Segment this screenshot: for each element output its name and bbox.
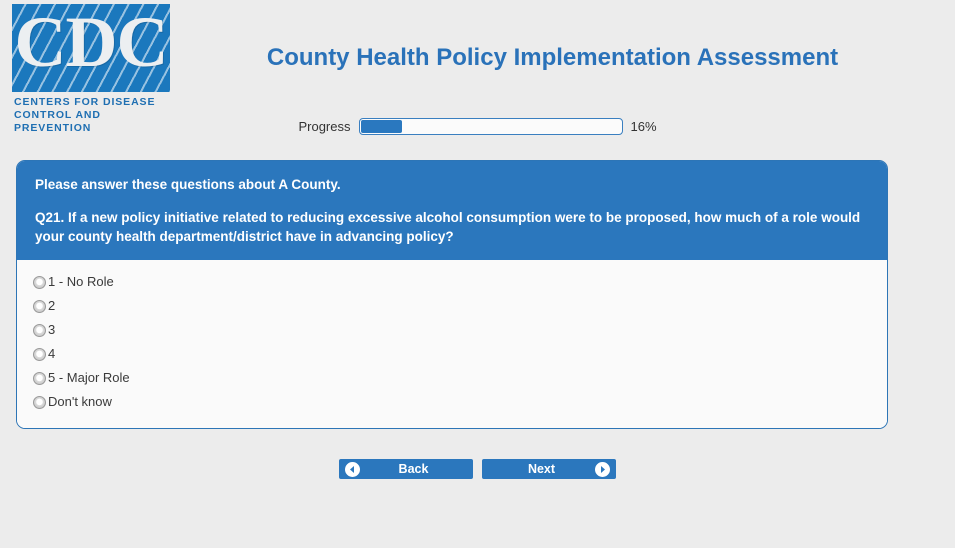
page-title: County Health Policy Implementation Asse… [190, 44, 915, 72]
cdc-tagline-line1: CENTERS FOR DISEASE [14, 96, 170, 109]
next-button[interactable]: Next [482, 459, 616, 479]
progress-label: Progress [298, 119, 350, 134]
next-button-label: Next [488, 462, 595, 476]
question-number: Q21. [35, 210, 64, 225]
progress-bar [359, 118, 623, 135]
circle-arrow-right-icon [595, 462, 610, 477]
answer-option-label: 2 [48, 298, 55, 314]
progress-bar-fill [361, 120, 403, 133]
panel-intro-text: Please answer these questions about A Co… [35, 177, 869, 192]
cdc-logo-mark: CDC [12, 4, 170, 92]
answer-option[interactable]: 5 - Major Role [17, 366, 887, 390]
circle-arrow-left-icon [345, 462, 360, 477]
answer-option-label: 1 - No Role [48, 274, 114, 290]
cdc-logo-letters: CDC [12, 6, 170, 78]
radio-button[interactable] [33, 372, 46, 385]
radio-button[interactable] [33, 276, 46, 289]
answer-option[interactable]: 1 - No Role [17, 270, 887, 294]
navigation-buttons: Back Next [0, 459, 955, 479]
answer-option-label: Don't know [48, 394, 112, 410]
back-button-label: Back [360, 462, 467, 476]
answer-option[interactable]: 4 [17, 342, 887, 366]
question-panel: Please answer these questions about A Co… [16, 160, 888, 429]
radio-button[interactable] [33, 348, 46, 361]
question-text: Q21. If a new policy initiative related … [35, 208, 869, 246]
radio-button[interactable] [33, 396, 46, 409]
answer-option[interactable]: Don't know [17, 390, 887, 414]
answer-option[interactable]: 2 [17, 294, 887, 318]
answer-options-list: 1 - No Role2345 - Major RoleDon't know [17, 260, 887, 428]
back-button[interactable]: Back [339, 459, 473, 479]
answer-option-label: 5 - Major Role [48, 370, 130, 386]
answer-option-label: 4 [48, 346, 55, 362]
progress-percent: 16% [631, 119, 657, 134]
cdc-logo: CDC CENTERS FOR DISEASE CONTROL AND PREV… [12, 4, 170, 120]
radio-button[interactable] [33, 324, 46, 337]
progress-row: Progress 16% [0, 118, 955, 135]
page-header: CDC CENTERS FOR DISEASE CONTROL AND PREV… [0, 0, 955, 122]
answer-option-label: 3 [48, 322, 55, 338]
question-panel-header: Please answer these questions about A Co… [17, 161, 887, 260]
answer-option[interactable]: 3 [17, 318, 887, 342]
radio-button[interactable] [33, 300, 46, 313]
question-body: If a new policy initiative related to re… [35, 210, 860, 244]
